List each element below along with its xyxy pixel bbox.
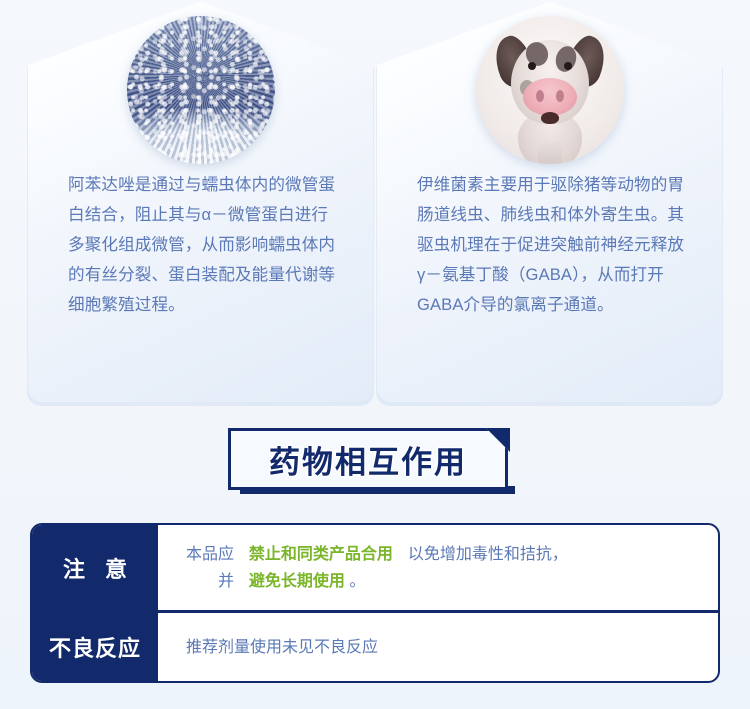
adverse-reaction-text: 推荐剂量使用未见不良反应	[186, 639, 378, 656]
adverse-reaction-line-1: 推荐剂量使用未见不良反应	[186, 634, 696, 661]
table-row-content-adverse-reaction: 推荐剂量使用未见不良反应	[158, 613, 718, 681]
caution-line2-highlight: 避免长期使用	[249, 573, 345, 590]
caution-line1-pre: 本品应	[186, 546, 234, 563]
pig-nostril-right	[556, 90, 564, 102]
mechanism-card-ivermectin: 伊维菌素主要用于驱除猪等动物的胃肠道线虫、肺线虫和体外寄生虫。其驱虫机理在于促进…	[377, 0, 722, 402]
table-row-label-caution: 注 意	[32, 525, 158, 610]
precautions-table: 注 意 本品应 禁止和同类产品合用 以免增加毒性和拮抗， 并 避免长期使用 。	[30, 523, 720, 683]
card-text-ivermectin: 伊维菌素主要用于驱除猪等动物的胃肠道线虫、肺线虫和体外寄生虫。其驱虫机理在于促进…	[417, 170, 688, 320]
card-text-albendazole: 阿苯达唑是通过与蠕虫体内的微管蛋白结合，阻止其与α－微管蛋白进行多聚化组成微管，…	[68, 170, 339, 320]
pig-eye-right	[564, 62, 572, 70]
pig-mouth	[541, 112, 559, 124]
table-row: 不良反应 推荐剂量使用未见不良反应	[32, 610, 718, 681]
caution-line1-highlight: 禁止和同类产品合用	[249, 546, 393, 563]
pig-eye-left	[528, 62, 536, 70]
caution-line2-post: 。	[349, 573, 365, 590]
pig-photo	[476, 16, 624, 164]
table-row-label-adverse-reaction: 不良反应	[32, 613, 158, 681]
product-info-page: 阿苯达唑是通过与蠕虫体内的微管蛋白结合，阻止其与α－微管蛋白进行多聚化组成微管，…	[0, 0, 750, 709]
section-title-text: 药物相互作用	[228, 428, 508, 490]
pig-nostril-left	[536, 90, 544, 102]
caution-line1-post: 以免增加毒性和拮抗，	[408, 546, 568, 563]
pig-illustration	[476, 16, 624, 164]
table-row: 注 意 本品应 禁止和同类产品合用 以免增加毒性和拮抗， 并 避免长期使用 。	[32, 525, 718, 610]
pig-leg-right	[549, 142, 562, 164]
pig-snout	[523, 78, 577, 116]
caution-line-1: 本品应 禁止和同类产品合用 以免增加毒性和拮抗，	[186, 541, 696, 568]
mechanism-cards-section: 阿苯达唑是通过与蠕虫体内的微管蛋白结合，阻止其与α－微管蛋白进行多聚化组成微管，…	[0, 0, 750, 410]
table-row-content-caution: 本品应 禁止和同类产品合用 以免增加毒性和拮抗， 并 避免长期使用 。	[158, 525, 718, 610]
caution-line2-pre: 并	[218, 573, 234, 590]
powder-granule-photo	[127, 16, 275, 164]
section-title-banner: 药物相互作用	[228, 428, 510, 500]
caution-line-2: 并 避免长期使用 。	[186, 568, 696, 595]
mechanism-card-albendazole: 阿苯达唑是通过与蠕虫体内的微管蛋白结合，阻止其与α－微管蛋白进行多聚化组成微管，…	[28, 0, 373, 402]
